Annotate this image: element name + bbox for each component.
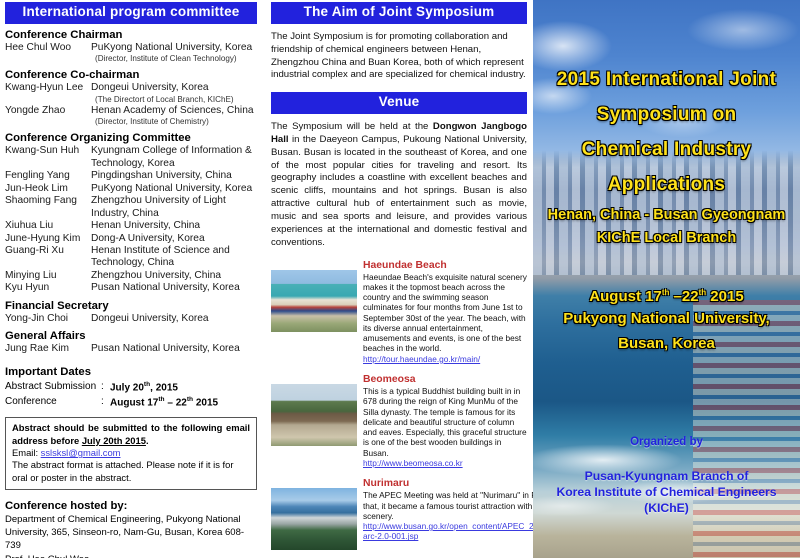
attraction-description: Haeundae Beach's exquisite natural scene… <box>363 272 527 354</box>
committee-member: June-Hyung Kim Dong-A University, Korea <box>5 233 257 245</box>
member-affiliation: Pingdingshan University, China <box>91 170 257 182</box>
venue-header: Venue <box>271 92 527 114</box>
abstract-email-line: Email: sslsksl@gmail.com <box>12 447 250 459</box>
host-contact-person: Prof. Hee Chul Woo <box>5 554 257 558</box>
date-value: July 20th, 2015 <box>110 380 178 396</box>
member-name: Jung Rae Kim <box>5 343 91 355</box>
member-name: Guang-Ri Xu <box>5 245 91 270</box>
member-affiliation: Zhengzhou University, China <box>91 270 257 282</box>
conference-hosted-by-heading: Conference hosted by: <box>5 500 257 512</box>
member-affiliation: Zhengzhou University of Light Industry, … <box>91 195 257 220</box>
date-separator: : <box>101 395 110 411</box>
member-name: Yong-Jin Choi <box>5 313 91 325</box>
abstract-instruction: Abstract should be submitted to the foll… <box>12 422 250 447</box>
member-affiliation: PuKyong National University, Korea <box>91 42 257 54</box>
host-department: Department of Chemical Engineering, Puky… <box>5 514 257 552</box>
attraction-link[interactable]: http://www.beomeosa.co.kr <box>363 458 527 468</box>
attraction-description: This is a typical Buddhist building buil… <box>363 386 527 458</box>
attraction-link[interactable]: http://tour.haeundae.go.kr/main/ <box>363 354 527 364</box>
member-note: (Director, Institute of Clean Technology… <box>95 54 257 64</box>
member-name: Kwang-Hyun Lee <box>5 82 91 94</box>
member-affiliation: Dongeui University, Korea <box>91 82 257 94</box>
attraction-haeundae-beach: Haeundae Beach Haeundae Beach's exquisit… <box>271 260 527 365</box>
member-affiliation: Henan Academy of Sciences, China <box>91 105 257 117</box>
section-title-conference-chairman: Conference Chairman <box>5 29 257 41</box>
haeundae-beach-photo <box>271 270 357 332</box>
date-value: August 17th – 22th 2015 <box>110 395 218 411</box>
date-label: Abstract Submission <box>5 380 101 396</box>
attraction-beomeosa: Beomeosa This is a typical Buddhist buil… <box>271 374 527 468</box>
aim-paragraph: The Joint Symposium is for promoting col… <box>271 31 527 82</box>
date-row-abstract-submission: Abstract Submission : July 20th, 2015 <box>5 380 257 396</box>
middle-column: The Aim of Joint Symposium The Joint Sym… <box>271 2 527 556</box>
committee-member: Kwang-Sun Huh Kyungnam College of Inform… <box>5 145 257 170</box>
date-separator: : <box>101 380 110 396</box>
committee-member: Shaoming Fang Zhengzhou University of Li… <box>5 195 257 220</box>
member-name: Xiuhua Liu <box>5 220 91 232</box>
member-affiliation: Pusan National University, Korea <box>91 282 257 294</box>
member-name: Yongde Zhao <box>5 105 91 117</box>
committee-member: Minying Liu Zhengzhou University, China <box>5 270 257 282</box>
nurimaru-house-photo <box>271 488 357 550</box>
organizer-line-1: Pusan-Kyungnam Branch of <box>533 468 800 484</box>
section-title-financial-secretary: Financial Secretary <box>5 300 257 312</box>
committee-member: Jun-Heok Lim PuKyong National University… <box>5 183 257 195</box>
member-affiliation: Kyungnam College of Information & Techno… <box>91 145 257 170</box>
date-row-conference: Conference : August 17th – 22th 2015 <box>5 395 257 411</box>
member-name: Jun-Heok Lim <box>5 183 91 195</box>
abstract-format-note: The abstract format is attached. Please … <box>12 459 250 484</box>
section-title-conference-co-chairman: Conference Co-chairman <box>5 69 257 81</box>
committee-member: Kyu Hyun Pusan National University, Kore… <box>5 282 257 294</box>
committee-member: Kwang-Hyun Lee Dongeui University, Korea <box>5 82 257 94</box>
committee-member: Guang-Ri Xu Henan Institute of Science a… <box>5 245 257 270</box>
poster-subtitle-line-1: Henan, China - Busan Gyeongnam <box>533 203 800 227</box>
member-name: June-Hyung Kim <box>5 233 91 245</box>
date-label: Conference <box>5 395 101 411</box>
committee-member: Xiuhua Liu Henan University, China <box>5 220 257 232</box>
attraction-title: Beomeosa <box>363 374 527 385</box>
attraction-nurimaru: Nurimaru The APEC Meeting was held at "N… <box>271 478 527 550</box>
important-dates-heading: Important Dates <box>5 366 257 378</box>
aim-of-symposium-header: The Aim of Joint Symposium <box>271 2 527 24</box>
committee-member: Hee Chul Woo PuKyong National University… <box>5 42 257 54</box>
organizer-line-3: (KIChE) <box>533 500 800 516</box>
member-name: Minying Liu <box>5 270 91 282</box>
member-affiliation: Henan Institute of Science and Technolog… <box>91 245 257 270</box>
attraction-title: Haeundae Beach <box>363 260 527 271</box>
poster-title-line-3: Chemical Industry <box>533 134 800 165</box>
member-affiliation: Pusan National University, Korea <box>91 343 257 355</box>
program-committee-header: International program committee <box>5 2 257 24</box>
poster-venue-line-2: Busan, Korea <box>533 331 800 356</box>
member-affiliation: Dong-A University, Korea <box>91 233 257 245</box>
poster-conference-dates: August 17th –22th 2015 <box>533 280 800 309</box>
organizer-line-2: Korea Institute of Chemical Engineers <box>533 484 800 500</box>
beomeosa-temple-photo <box>271 384 357 446</box>
member-affiliation: PuKyong National University, Korea <box>91 183 257 195</box>
member-affiliation: Dongeui University, Korea <box>91 313 257 325</box>
member-affiliation: Henan University, China <box>91 220 257 232</box>
left-column: International program committee Conferen… <box>5 2 257 556</box>
poster-title-line-1: 2015 International Joint <box>533 64 800 95</box>
committee-member: Yong-Jin Choi Dongeui University, Korea <box>5 313 257 325</box>
poster-subtitle-line-2: KIChE Local Branch <box>533 226 800 250</box>
committee-member: Yongde Zhao Henan Academy of Sciences, C… <box>5 105 257 117</box>
poster-venue-line-1: Pukyong National University, <box>533 306 800 331</box>
poster-title-line-4: Applications <box>533 169 800 200</box>
member-name: Hee Chul Woo <box>5 42 91 54</box>
section-title-general-affairs: General Affairs <box>5 330 257 342</box>
member-note: (Director, Institute of Chemistry) <box>95 117 257 127</box>
poster-title-line-2: Symposium on <box>533 99 800 130</box>
section-title-conference-organizing-committee: Conference Organizing Committee <box>5 132 257 144</box>
member-name: Shaoming Fang <box>5 195 91 220</box>
member-name: Fengling Yang <box>5 170 91 182</box>
committee-member: Jung Rae Kim Pusan National University, … <box>5 343 257 355</box>
member-name: Kyu Hyun <box>5 282 91 294</box>
member-note: (The Directort of Local Branch, KIChE) <box>95 95 257 105</box>
committee-member: Fengling Yang Pingdingshan University, C… <box>5 170 257 182</box>
abstract-submission-box: Abstract should be submitted to the foll… <box>5 417 257 490</box>
organized-by-label: Organized by <box>533 436 800 448</box>
right-photo-column: 2015 International Joint Symposium on Ch… <box>533 0 800 558</box>
venue-paragraph: The Symposium will be held at the Dongwo… <box>271 121 527 249</box>
abstract-email-link[interactable]: sslsksl@gmail.com <box>41 447 121 458</box>
conference-poster: International program committee Conferen… <box>0 0 800 558</box>
member-name: Kwang-Sun Huh <box>5 145 91 170</box>
